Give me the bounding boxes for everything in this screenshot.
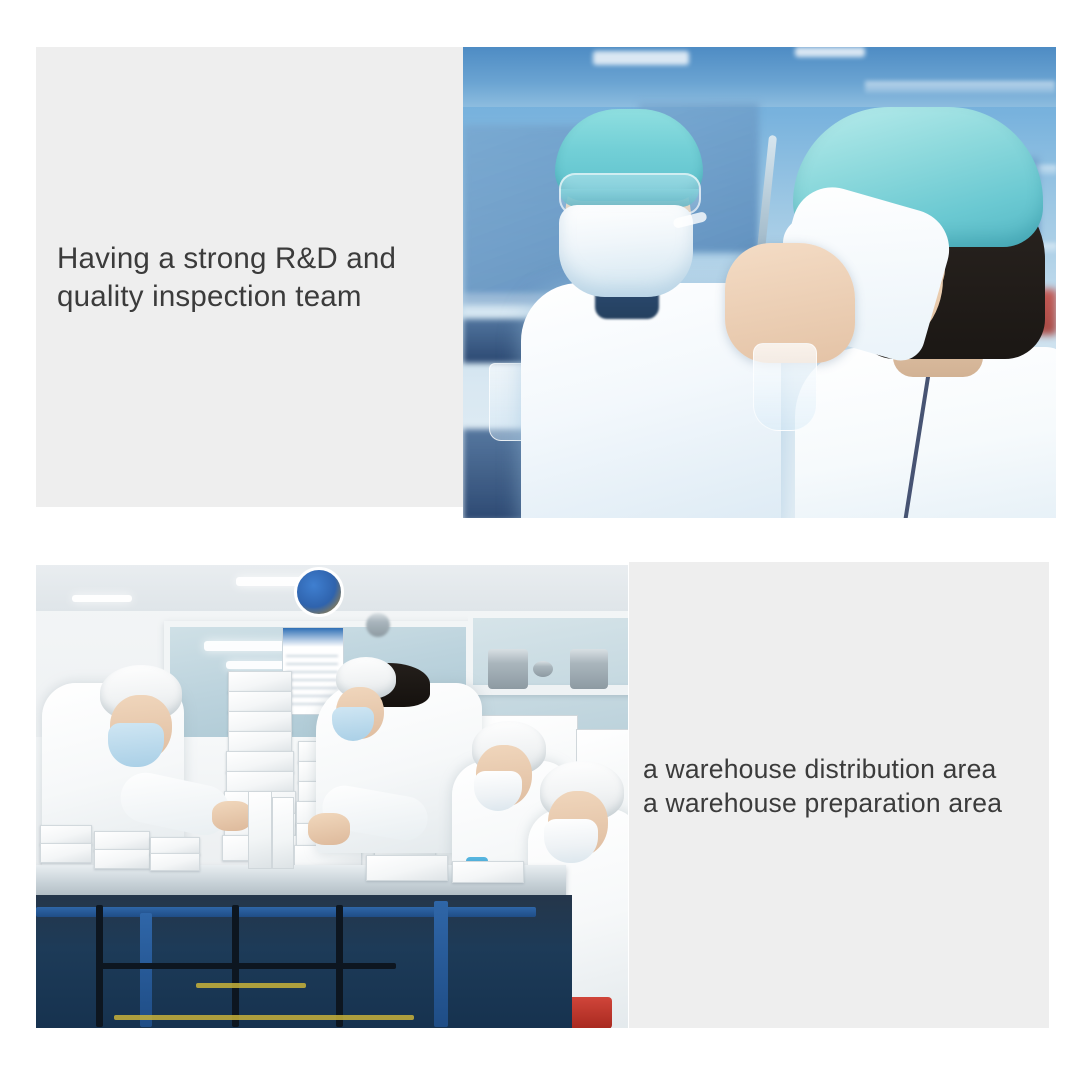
warehouse-packing-photo: [36, 565, 628, 1028]
carton-box: [366, 855, 448, 881]
lab-ceiling: [463, 47, 1056, 107]
table-frame-bar: [36, 907, 536, 917]
carton-box: [226, 771, 294, 793]
ceiling-light-icon: [593, 51, 689, 65]
floor-marking: [114, 1015, 414, 1020]
carton-box: [40, 825, 92, 845]
floor-marking: [196, 983, 306, 988]
ceiling-light-icon: [795, 47, 865, 57]
steel-container-icon: [488, 649, 528, 689]
window-light-icon: [226, 661, 288, 669]
steel-container-icon: [533, 661, 553, 677]
poster-canvas: Having a strong R&D and quality inspecti…: [0, 0, 1080, 1080]
carton-box: [226, 751, 294, 773]
carton-box: [40, 843, 92, 863]
table-frame-bar: [434, 901, 448, 1027]
flask-icon: [753, 343, 817, 431]
carton-box-upright: [272, 797, 294, 869]
bottom-caption-text: a warehouse distribution area a warehous…: [643, 752, 1053, 821]
carton-box: [452, 861, 524, 883]
lab-inspection-photo: [463, 47, 1056, 518]
carton-box: [94, 831, 150, 851]
carton-box: [228, 731, 292, 753]
lab-shelf: [865, 81, 1055, 93]
carton-box-upright: [248, 791, 272, 869]
table-frame-bar: [140, 913, 152, 1027]
carton-box: [150, 853, 200, 871]
steel-container-icon: [570, 649, 608, 689]
warehouse-worker-hand: [308, 813, 350, 845]
wall-sign-icon: [294, 567, 344, 617]
ceiling-light-icon: [72, 595, 132, 602]
warehouse-worker-hand: [212, 801, 252, 831]
carton-box: [228, 711, 292, 733]
cross-brace: [96, 963, 396, 969]
carton-box: [94, 849, 150, 869]
carton-box: [228, 671, 292, 693]
window-light-icon: [204, 641, 290, 651]
carton-box: [228, 691, 292, 713]
clock-icon: [366, 613, 390, 637]
face-mask-icon: [559, 205, 693, 297]
top-caption-text: Having a strong R&D and quality inspecti…: [57, 240, 457, 317]
